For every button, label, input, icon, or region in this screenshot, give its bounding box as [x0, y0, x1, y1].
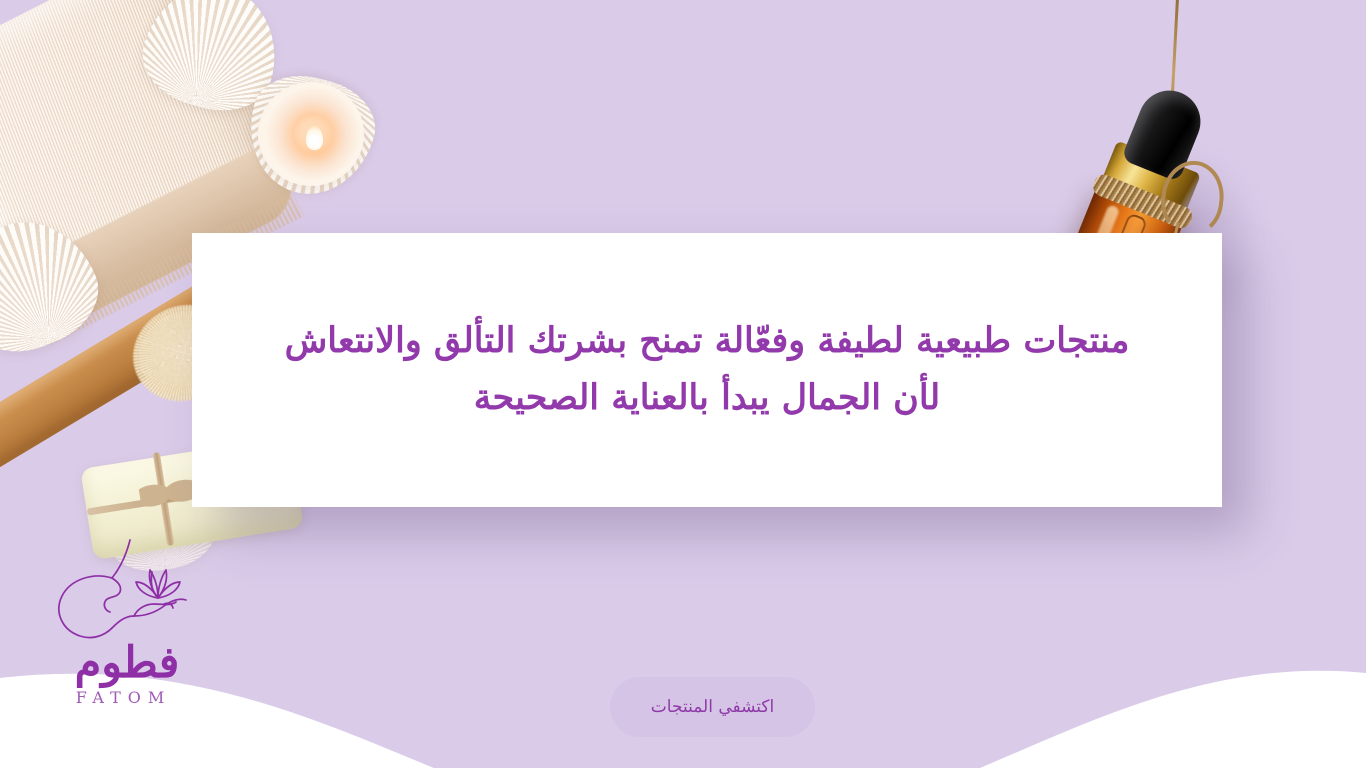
discover-products-button[interactable]: اكتشفي المنتجات [610, 677, 815, 737]
logo-wordmark-latin: FATOM [34, 688, 220, 707]
brand-logo[interactable]: فطوم FATOM [34, 538, 220, 720]
woman-profile-hand-flower-icon [34, 538, 220, 650]
slide-canvas: منتجات طبيعية لطيفة وفعّالة تمنح بشرتك ا… [0, 0, 1366, 768]
logo-wordmark-arabic: فطوم [34, 642, 220, 685]
headline-card: منتجات طبيعية لطيفة وفعّالة تمنح بشرتك ا… [192, 233, 1222, 507]
hero-headline: منتجات طبيعية لطيفة وفعّالة تمنح بشرتك ا… [192, 313, 1222, 426]
